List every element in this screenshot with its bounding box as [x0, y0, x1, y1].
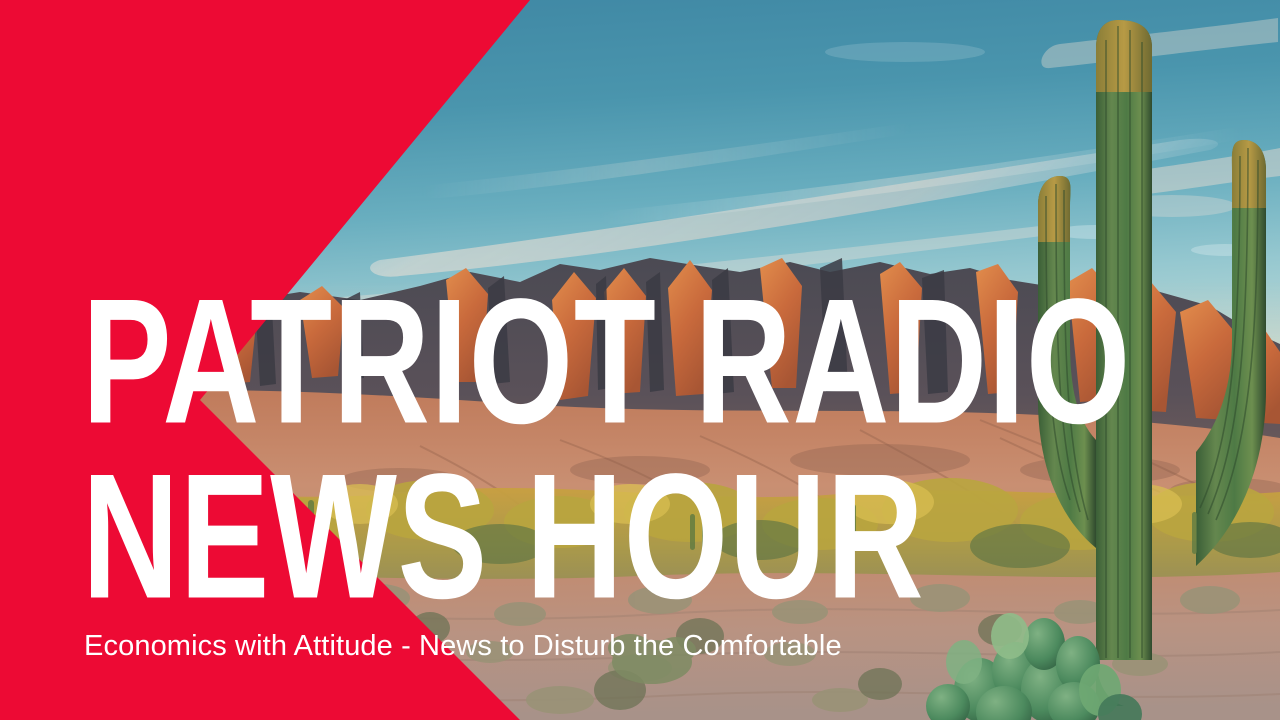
video-title-card: PATRIOT RADIO NEWS HOUR Economics with A… [0, 0, 1280, 720]
show-title-line-1: PATRIOT RADIO [82, 272, 1131, 450]
show-title-line-2: NEWS HOUR [82, 447, 924, 625]
show-subtitle-tagline: Economics with Attitude - News to Distur… [84, 629, 842, 664]
title-text-layer: PATRIOT RADIO NEWS HOUR Economics with A… [0, 0, 1280, 720]
